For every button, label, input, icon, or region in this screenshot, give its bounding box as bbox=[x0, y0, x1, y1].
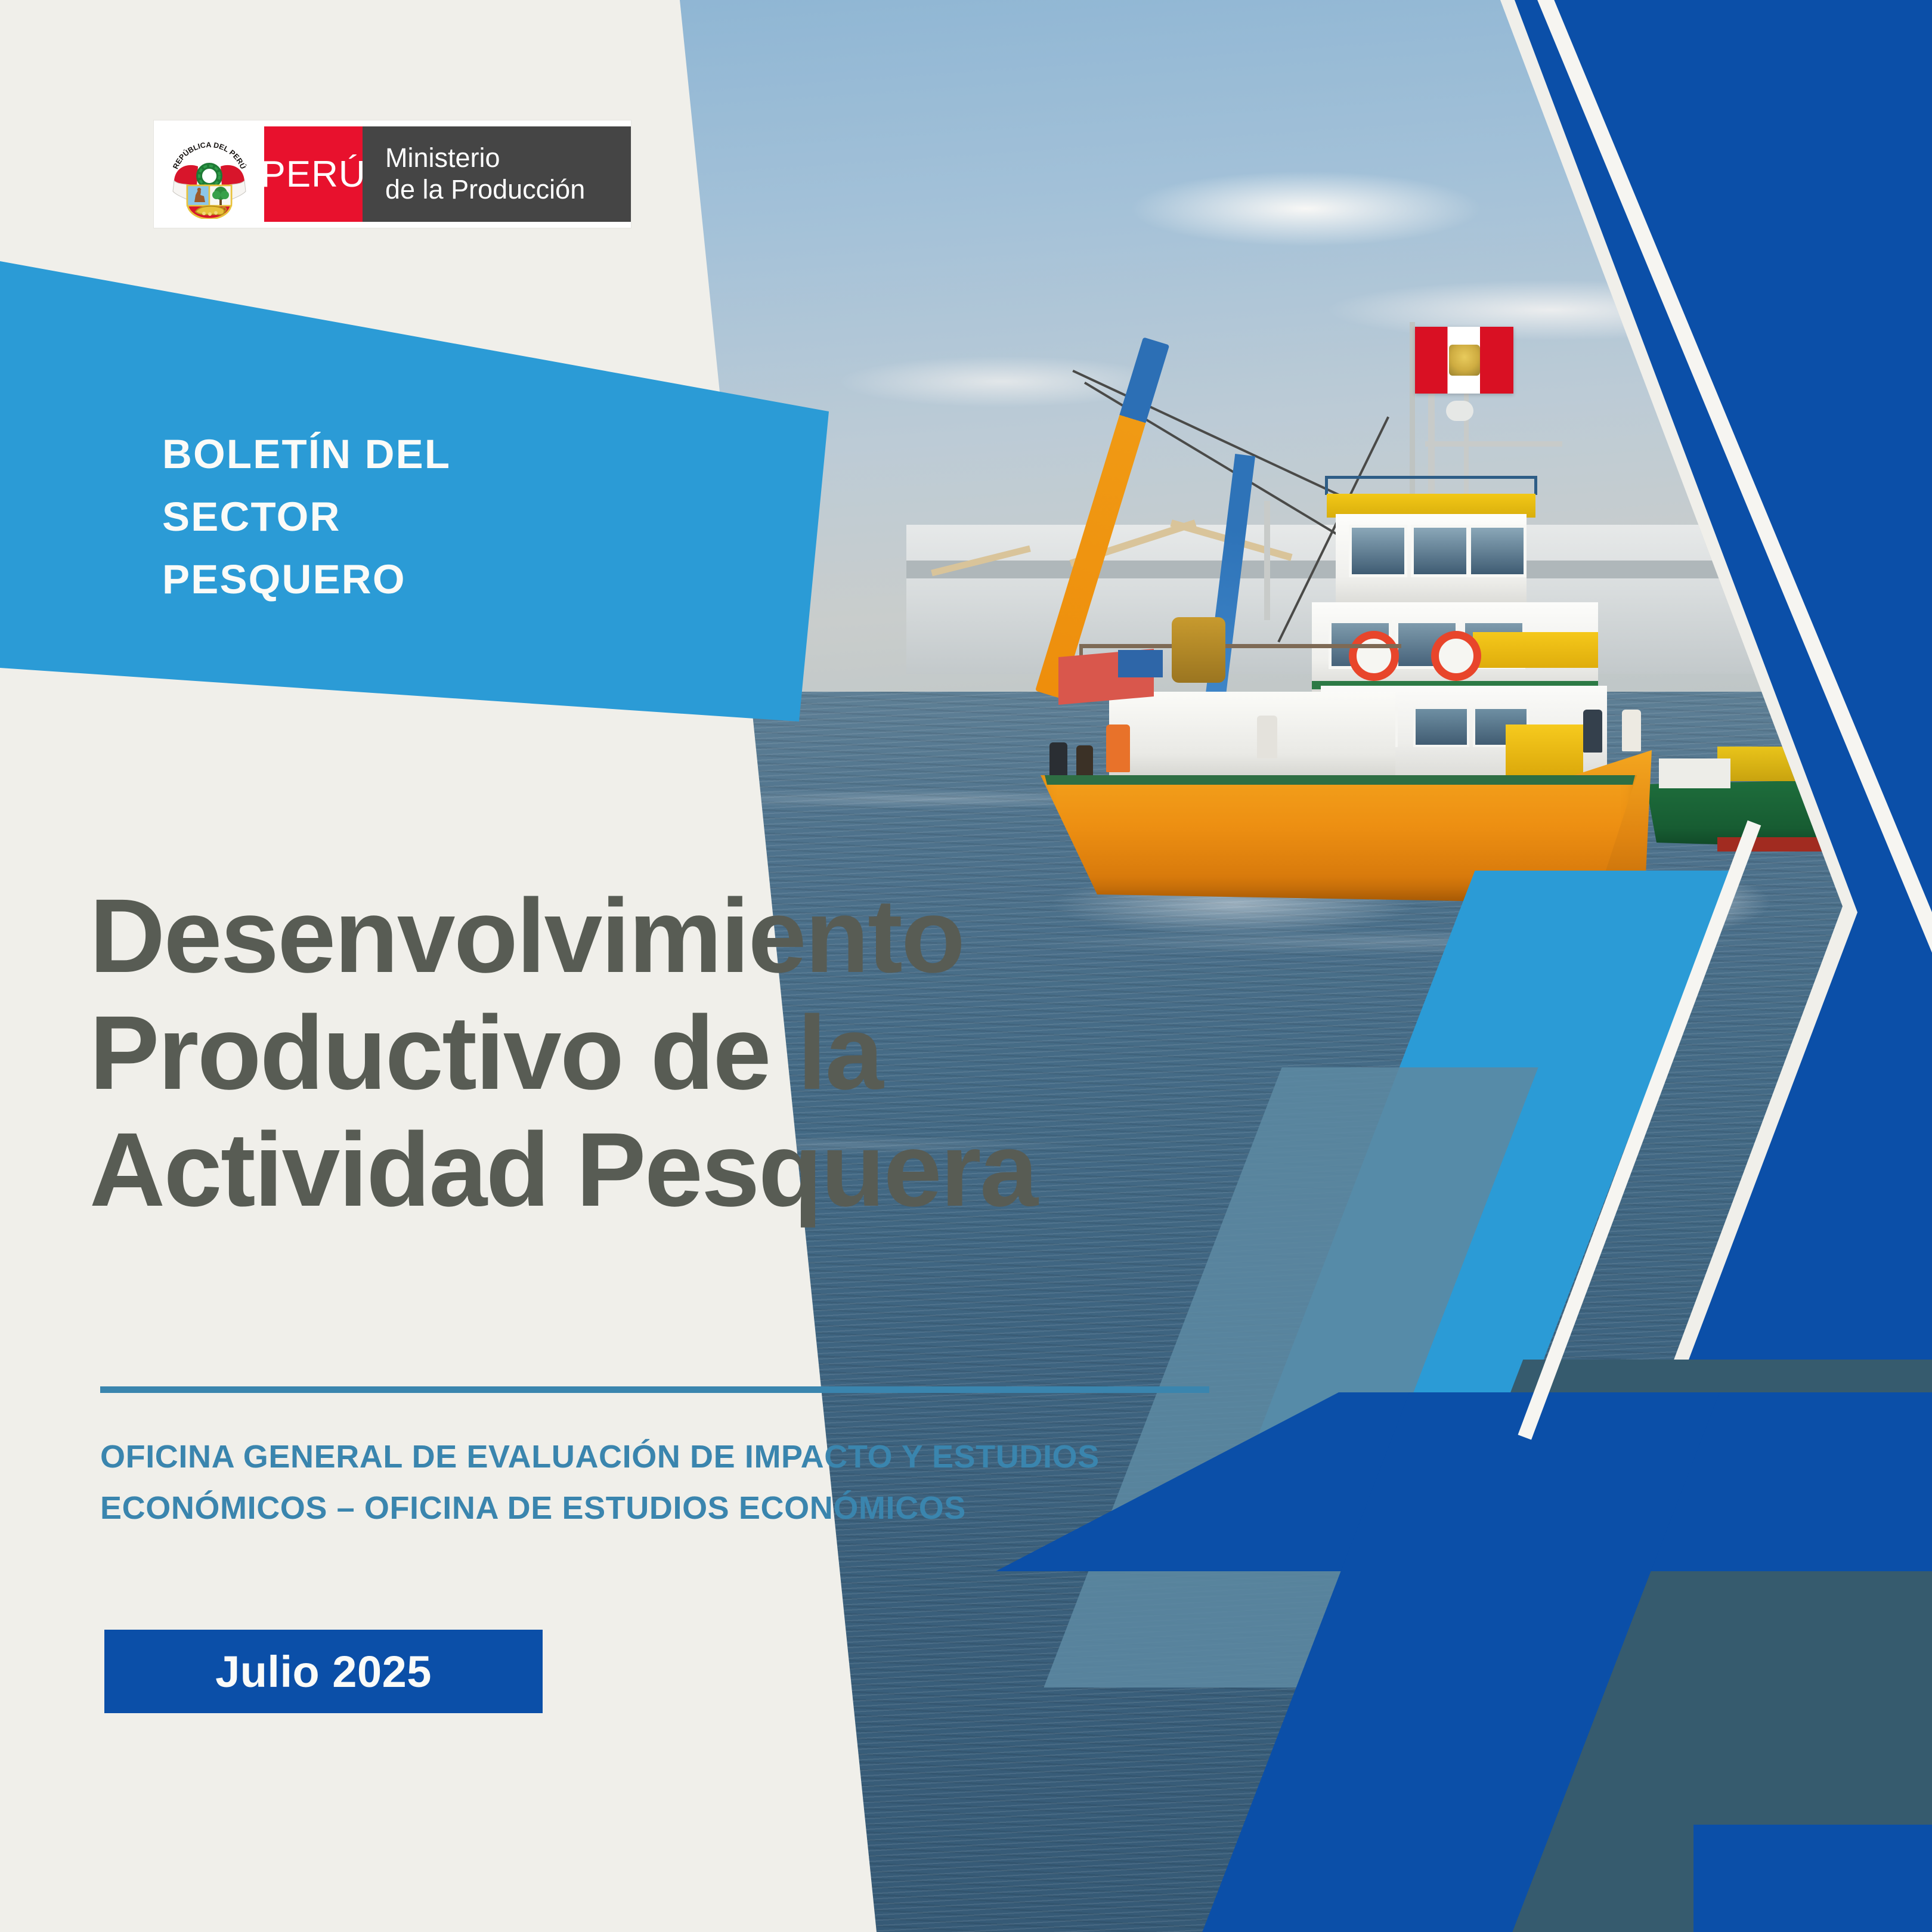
yellow-panel-upper bbox=[1473, 632, 1598, 668]
background-white-cabin bbox=[1659, 758, 1730, 788]
office-line-2: ECONÓMICOS – OFICINA DE ESTUDIOS ECONÓMI… bbox=[100, 1482, 1100, 1534]
logo-ministry-block: Ministerio de la Producción bbox=[363, 126, 631, 222]
produce-logo: REPÚBLICA DEL PERÚ bbox=[154, 120, 631, 228]
wheelhouse-railing bbox=[1325, 476, 1537, 495]
logo-country-label: PERÚ bbox=[261, 153, 366, 196]
mast-crossbar bbox=[1425, 441, 1562, 447]
wheelhouse-window-3 bbox=[1468, 525, 1527, 577]
logo-ministry-line1: Ministerio bbox=[385, 143, 631, 174]
peru-flag-emblem-icon bbox=[1449, 345, 1480, 376]
hull-green-stripe bbox=[1045, 775, 1635, 785]
document-cover: REPÚBLICA DEL PERÚ bbox=[0, 0, 1932, 1932]
deck-crate-blue bbox=[1118, 650, 1163, 677]
logo-ministry-line2: de la Producción bbox=[385, 174, 631, 206]
banner-line-1: BOLETÍN DEL bbox=[162, 423, 451, 486]
crew-member-orange-suit bbox=[1106, 724, 1130, 772]
yellow-panel-lower bbox=[1506, 724, 1583, 775]
banner-line-2: SECTOR bbox=[162, 486, 451, 549]
forward-deckhouse bbox=[1109, 692, 1395, 781]
crew-member-3 bbox=[1257, 716, 1277, 758]
bulletin-banner-text: BOLETÍN DEL SECTOR PESQUERO bbox=[162, 423, 451, 611]
life-ring-icon-2 bbox=[1431, 631, 1481, 681]
lower-window-2 bbox=[1413, 707, 1469, 747]
radar-dome bbox=[1446, 401, 1473, 421]
peru-coat-of-arms-icon: REPÚBLICA DEL PERÚ bbox=[154, 120, 264, 228]
title-line-1: Desenvolvimiento bbox=[89, 878, 1037, 995]
wheelhouse-window-1 bbox=[1349, 525, 1407, 577]
banner-line-3: PESQUERO bbox=[162, 549, 451, 611]
deck-equipment-brass bbox=[1172, 617, 1225, 683]
crew-member-5 bbox=[1622, 710, 1641, 751]
office-line-1: OFICINA GENERAL DE EVALUACIÓN DE IMPACTO… bbox=[100, 1431, 1100, 1482]
issuing-office: OFICINA GENERAL DE EVALUACIÓN DE IMPACTO… bbox=[100, 1431, 1100, 1534]
date-badge: Julio 2025 bbox=[104, 1630, 543, 1713]
page-title: Desenvolvimiento Productivo de la Activi… bbox=[89, 878, 1037, 1229]
wheelhouse-window-2 bbox=[1411, 525, 1469, 577]
decor-bottom-blue-strip bbox=[1693, 1825, 1932, 1932]
title-divider bbox=[100, 1386, 1209, 1393]
crew-member-4 bbox=[1583, 710, 1602, 753]
title-line-3: Actividad Pesquera bbox=[89, 1111, 1037, 1228]
date-badge-label: Julio 2025 bbox=[215, 1646, 432, 1697]
title-line-2: Productivo de la bbox=[89, 995, 1037, 1111]
logo-country-block: PERÚ bbox=[264, 126, 363, 222]
mast-forward bbox=[1264, 501, 1270, 620]
